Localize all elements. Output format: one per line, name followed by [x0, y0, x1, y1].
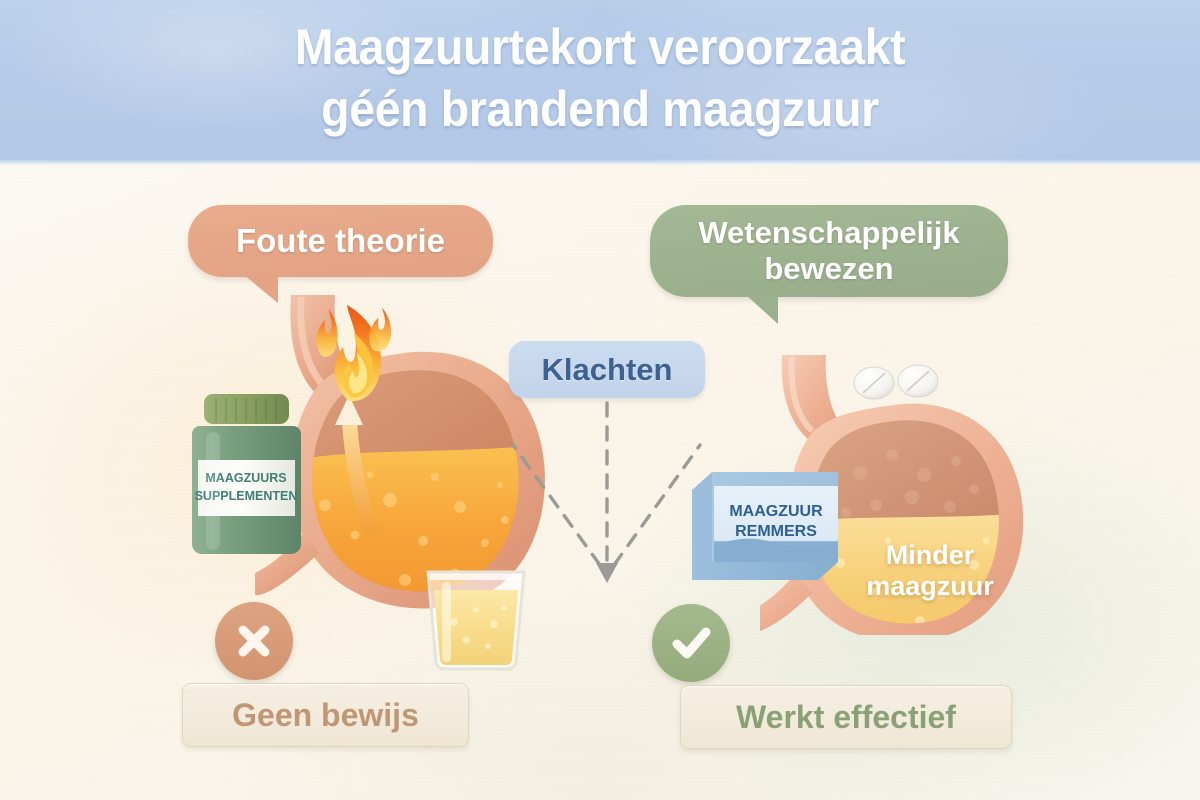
verdict-right-label: Werkt effectief — [736, 699, 956, 736]
cross-icon — [215, 602, 293, 680]
verdict-plaque-left: Geen bewijs — [182, 683, 469, 747]
cross-glyph — [233, 620, 275, 662]
title-line-1: Maagzuurtekort veroorzaakt — [295, 19, 906, 75]
check-icon — [652, 604, 730, 682]
title-line-2: géén brandend maagzuur — [42, 78, 1158, 140]
connector-arrowhead — [596, 563, 618, 583]
connector-to-left — [513, 445, 600, 565]
infographic-root: Maagzuurtekort veroorzaakt géén brandend… — [0, 0, 1200, 800]
page-title: Maagzuurtekort veroorzaakt géén brandend… — [42, 16, 1158, 140]
connector-to-right — [614, 445, 700, 565]
check-glyph — [668, 620, 714, 666]
connector-lines — [0, 165, 1200, 800]
header-banner: Maagzuurtekort veroorzaakt géén brandend… — [0, 0, 1200, 165]
verdict-left-label: Geen bewijs — [232, 697, 419, 734]
verdict-plaque-right: Werkt effectief — [680, 685, 1012, 749]
